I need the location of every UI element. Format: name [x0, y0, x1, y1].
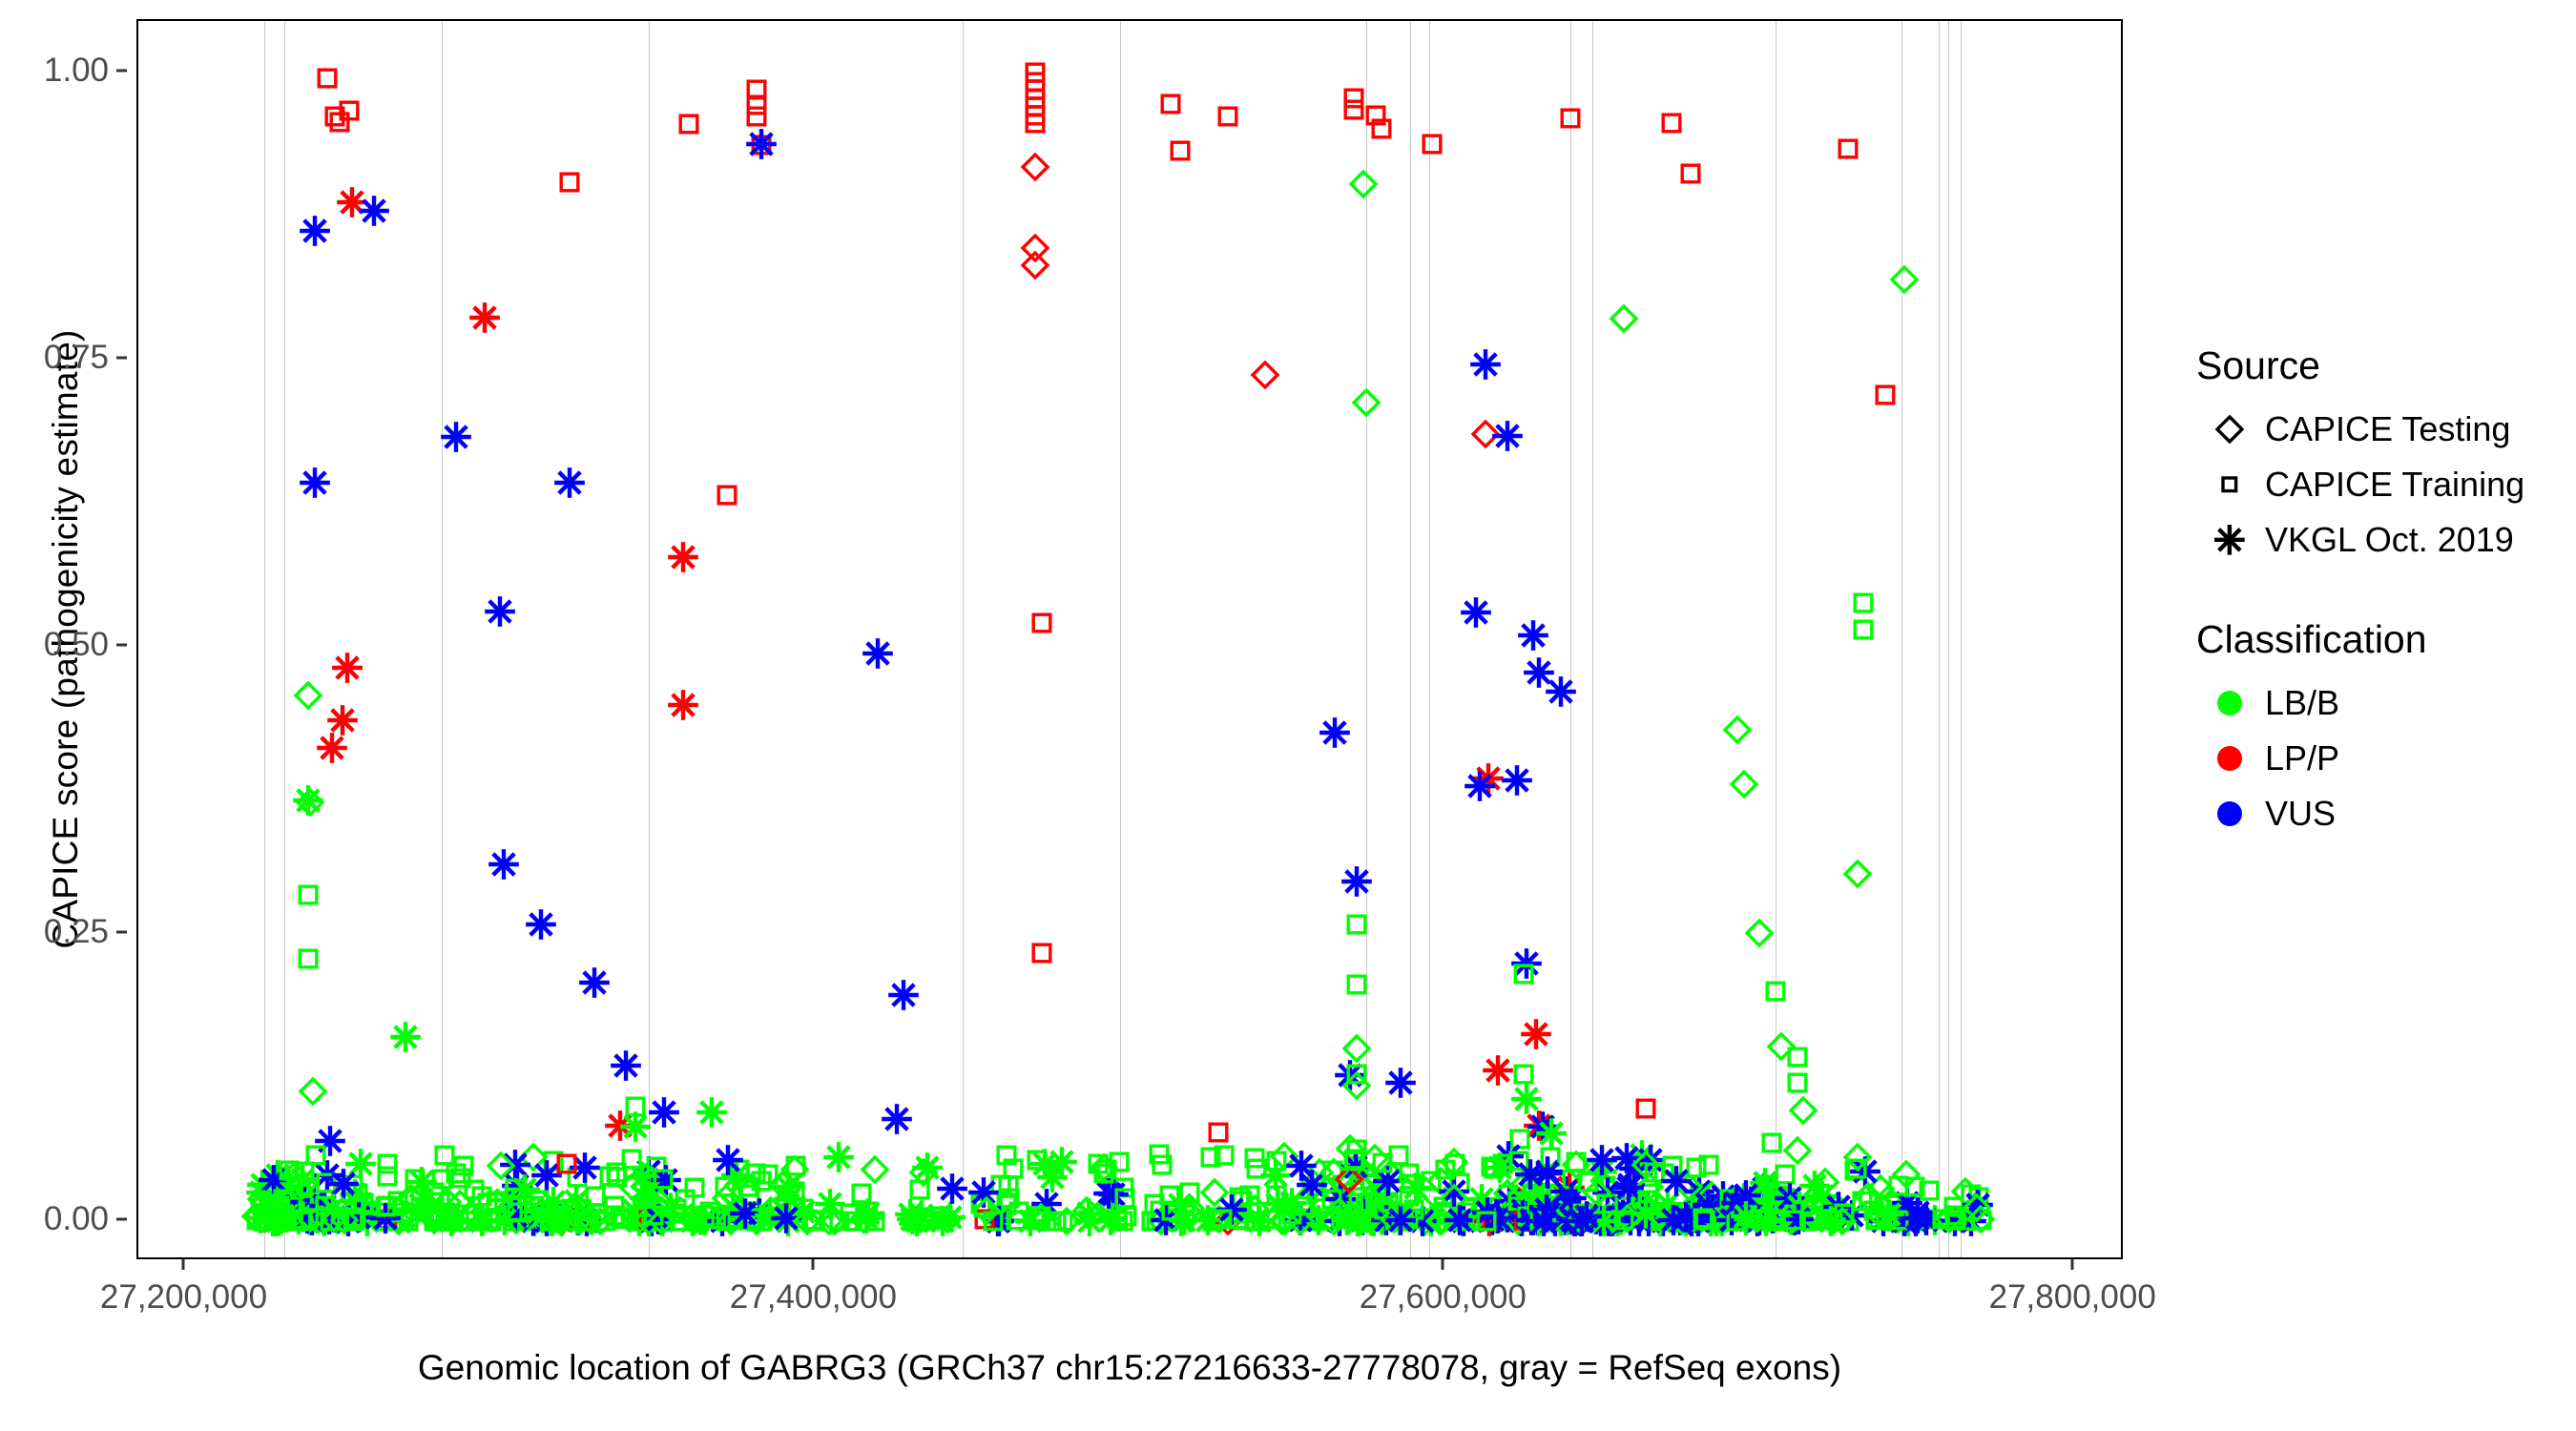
legend-item-classification[interactable]: LP/P	[2194, 731, 2557, 786]
data-point	[301, 1209, 325, 1234]
data-point	[750, 1195, 790, 1235]
data-point	[1212, 1143, 1236, 1168]
data-point	[1497, 760, 1537, 800]
data-point	[1482, 1157, 1506, 1182]
data-point	[1370, 1151, 1395, 1175]
data-point	[275, 1206, 300, 1231]
y-tick-mark	[116, 1217, 127, 1220]
data-point	[1619, 1197, 1659, 1237]
data-point	[275, 1209, 300, 1234]
data-point	[1966, 1185, 1991, 1210]
data-point	[973, 1207, 998, 1232]
data-point	[436, 1206, 461, 1231]
data-point	[632, 1209, 656, 1234]
data-point	[987, 1207, 1011, 1232]
legend-item-source[interactable]: VKGL Oct. 2019	[2194, 512, 2557, 568]
x-tick-label: 27,200,000	[100, 1278, 267, 1317]
data-point	[715, 1205, 747, 1237]
data-point	[554, 1151, 579, 1176]
data-point	[1610, 1200, 1651, 1240]
data-point	[1757, 1178, 1797, 1218]
data-point	[1419, 1208, 1444, 1233]
data-point	[1114, 1204, 1139, 1229]
data-point	[1508, 1196, 1548, 1236]
data-point	[677, 1205, 710, 1237]
data-point	[1462, 1179, 1502, 1219]
data-point	[782, 1179, 807, 1204]
data-point	[335, 1174, 375, 1214]
data-point	[618, 1206, 643, 1231]
data-point	[1612, 1194, 1637, 1219]
data-point	[1511, 1209, 1536, 1234]
data-point	[1025, 1144, 1065, 1184]
data-point	[1601, 1200, 1641, 1240]
data-point	[1935, 1201, 1975, 1241]
legend-key	[2194, 801, 2265, 826]
data-point	[1356, 1204, 1388, 1236]
data-point	[1471, 1201, 1496, 1226]
data-point	[838, 1201, 862, 1226]
data-point	[1913, 1207, 1938, 1232]
data-point	[313, 1189, 353, 1229]
data-point	[1626, 1194, 1666, 1234]
data-point	[355, 1199, 380, 1224]
data-point	[1576, 1209, 1601, 1234]
data-point	[1784, 1209, 1809, 1234]
data-point	[1593, 1173, 1618, 1198]
data-point	[556, 1181, 596, 1221]
data-point	[1516, 1174, 1556, 1214]
data-point	[1516, 1014, 1556, 1054]
data-point	[1548, 1208, 1572, 1233]
data-point	[612, 1207, 636, 1232]
data-point	[651, 1207, 675, 1232]
data-point	[1528, 1193, 1568, 1234]
data-point	[505, 1171, 545, 1211]
data-point	[1803, 1176, 1843, 1216]
data-point	[1188, 1200, 1228, 1240]
data-point	[1863, 1201, 1903, 1241]
data-point	[425, 1206, 449, 1231]
data-point	[1025, 1208, 1049, 1233]
data-point	[323, 700, 364, 740]
data-point	[624, 1094, 649, 1119]
data-point	[277, 1182, 309, 1214]
y-tick-label: 0.00	[0, 1200, 109, 1238]
data-point	[1794, 1196, 1826, 1229]
data-point	[756, 1162, 780, 1187]
data-point	[1717, 1209, 1742, 1234]
legend-item-source[interactable]: CAPICE Testing	[2194, 402, 2557, 457]
data-point	[268, 1168, 293, 1192]
data-point	[1948, 1207, 1973, 1232]
data-point	[859, 633, 899, 674]
data-point	[479, 1209, 504, 1234]
data-point	[513, 1200, 553, 1240]
data-point	[1069, 1193, 1109, 1234]
legend-item-classification[interactable]: VUS	[2194, 786, 2557, 841]
data-point	[481, 591, 521, 632]
data-point	[1420, 132, 1444, 156]
data-point	[1024, 111, 1049, 135]
data-point	[327, 110, 352, 135]
data-point	[241, 1172, 281, 1213]
data-point	[1142, 1192, 1167, 1216]
data-point	[604, 1161, 629, 1186]
data-point	[1144, 1209, 1169, 1234]
data-point	[267, 1193, 292, 1218]
data-point	[476, 1209, 501, 1234]
data-point	[1288, 1185, 1320, 1217]
data-point	[1334, 1132, 1366, 1165]
data-point	[396, 1209, 421, 1234]
data-point	[663, 686, 703, 726]
data-point	[1717, 1187, 1742, 1212]
y-tick-label: 0.50	[0, 626, 109, 664]
data-point	[981, 1209, 1006, 1234]
data-point	[622, 1157, 662, 1197]
data-point	[1319, 1201, 1360, 1241]
data-point	[848, 1194, 888, 1234]
data-point	[1238, 1200, 1263, 1225]
data-point	[892, 1199, 932, 1239]
data-point	[605, 1165, 630, 1190]
data-point	[1712, 1200, 1752, 1240]
data-point	[254, 1160, 294, 1200]
exon-line	[1120, 21, 1121, 1257]
data-point	[1656, 1161, 1696, 1201]
data-point	[741, 124, 781, 164]
data-point	[314, 1193, 339, 1218]
data-point	[1888, 263, 1921, 296]
data-point	[616, 1171, 649, 1203]
data-point	[1513, 1201, 1553, 1241]
data-point	[397, 1183, 429, 1215]
data-point	[341, 1144, 381, 1184]
data-point	[1725, 1188, 1765, 1228]
data-point	[1256, 1155, 1296, 1195]
data-point	[251, 1209, 276, 1234]
data-point	[1691, 1201, 1731, 1241]
data-point	[1298, 1168, 1330, 1200]
data-point	[352, 1191, 377, 1215]
data-point	[1557, 1190, 1582, 1214]
data-point	[278, 1158, 302, 1183]
data-point	[1339, 1201, 1379, 1241]
data-point	[1479, 1050, 1519, 1090]
data-point	[292, 1207, 317, 1232]
data-point	[1703, 1176, 1743, 1216]
data-point	[544, 1199, 584, 1239]
data-point	[1341, 1150, 1366, 1174]
data-point	[608, 1205, 633, 1230]
data-point	[1465, 344, 1506, 384]
data-point	[298, 1207, 322, 1232]
data-point	[1198, 1176, 1231, 1209]
data-point	[1323, 1195, 1356, 1228]
data-point	[1148, 1198, 1173, 1223]
data-point	[1409, 1205, 1442, 1237]
data-point	[539, 1204, 564, 1229]
data-point	[1884, 1209, 1909, 1234]
data-point	[1327, 1200, 1367, 1240]
data-point	[1442, 1209, 1466, 1234]
data-point	[1837, 1209, 1861, 1234]
data-point	[1688, 1193, 1713, 1218]
data-point	[1778, 1199, 1818, 1239]
data-point	[1203, 1203, 1236, 1235]
data-point	[505, 1201, 530, 1226]
data-point	[557, 1199, 597, 1239]
data-point	[287, 1174, 312, 1199]
data-point	[1832, 1202, 1857, 1227]
data-point	[1549, 1168, 1589, 1208]
data-point	[766, 1199, 806, 1239]
data-point	[1614, 1149, 1654, 1189]
data-point	[1660, 1153, 1685, 1178]
data-point	[1800, 1209, 1825, 1234]
data-point	[495, 1146, 535, 1186]
data-point	[1519, 653, 1559, 693]
data-point	[862, 1209, 887, 1234]
data-point	[262, 1208, 287, 1233]
data-point	[1876, 1199, 1908, 1232]
data-point	[1004, 1208, 1028, 1233]
data-point	[1607, 1138, 1647, 1178]
data-point	[624, 1209, 649, 1234]
legend-item-source[interactable]: CAPICE Training	[2194, 457, 2557, 512]
data-point	[1264, 1208, 1289, 1233]
data-point	[431, 1186, 464, 1218]
data-point	[418, 1204, 450, 1236]
data-point	[682, 1175, 707, 1200]
color-swatch-icon	[2217, 746, 2242, 771]
data-point	[1611, 1208, 1636, 1233]
data-point	[454, 1209, 479, 1234]
data-point	[779, 1153, 811, 1186]
data-point	[1019, 232, 1051, 264]
data-point	[1402, 1201, 1443, 1241]
data-point	[285, 1209, 310, 1234]
data-point	[279, 1159, 311, 1192]
data-point	[402, 1162, 442, 1202]
data-point	[1952, 1209, 1977, 1234]
data-point	[1724, 1209, 1749, 1234]
data-point	[293, 1205, 325, 1237]
data-point	[1678, 161, 1703, 186]
data-point	[1666, 1205, 1698, 1237]
data-point	[1702, 1201, 1742, 1241]
data-point	[1151, 1152, 1175, 1177]
data-point	[1783, 1208, 1808, 1233]
legend-classification-title: Classification	[2196, 617, 2557, 662]
color-swatch-icon	[2217, 801, 2242, 826]
data-point	[1489, 1136, 1529, 1176]
data-point	[651, 1189, 691, 1229]
data-point	[568, 1209, 592, 1234]
data-point	[800, 1208, 824, 1233]
data-point	[1024, 70, 1049, 94]
data-point	[1489, 1199, 1522, 1232]
data-point	[1548, 1198, 1589, 1238]
data-point	[1527, 1151, 1568, 1192]
data-point	[1790, 1203, 1815, 1228]
data-point	[288, 780, 328, 820]
data-point	[1025, 1201, 1057, 1234]
data-point	[1366, 1192, 1391, 1217]
data-point	[1173, 1202, 1197, 1227]
data-point	[565, 1148, 605, 1188]
data-point	[1570, 1201, 1595, 1226]
data-point	[1878, 1198, 1918, 1238]
legend-item-classification[interactable]: LB/B	[2194, 675, 2557, 731]
data-point	[1523, 1107, 1563, 1147]
data-point	[1779, 1209, 1804, 1234]
data-point	[1304, 1179, 1329, 1204]
data-point	[1958, 1185, 1998, 1225]
data-point	[1706, 1194, 1731, 1219]
data-point	[292, 1159, 317, 1184]
data-point	[1168, 138, 1193, 163]
data-point	[542, 1201, 582, 1241]
data-point	[1518, 1200, 1558, 1240]
data-point	[1359, 1142, 1391, 1174]
exon-line	[1592, 21, 1593, 1257]
x-tick-mark	[2071, 1259, 2074, 1270]
data-point	[1264, 1149, 1289, 1173]
data-point	[1341, 86, 1366, 111]
data-point	[527, 1189, 551, 1213]
exon-line	[264, 21, 265, 1257]
data-point	[539, 1209, 564, 1234]
data-point	[1032, 1157, 1072, 1197]
data-point	[484, 844, 524, 884]
data-point	[1810, 1190, 1850, 1230]
data-point	[732, 1204, 757, 1229]
data-point	[1581, 1201, 1621, 1241]
data-point	[1609, 1168, 1649, 1208]
data-point	[739, 1208, 764, 1233]
data-point	[1542, 672, 1582, 712]
data-point	[1346, 1191, 1371, 1215]
data-point	[1549, 1196, 1589, 1236]
exon-line	[963, 21, 964, 1257]
data-point	[1826, 1205, 1859, 1237]
data-point	[246, 1187, 286, 1227]
data-point	[907, 1148, 947, 1188]
data-point	[745, 77, 770, 102]
data-point	[1376, 1207, 1401, 1232]
data-point	[391, 1209, 416, 1234]
data-point	[1688, 1186, 1728, 1226]
y-tick-label: 0.75	[0, 339, 109, 377]
data-point	[1752, 1179, 1792, 1219]
data-point	[1750, 1204, 1782, 1236]
data-point	[1272, 1184, 1312, 1224]
data-point	[1883, 1192, 1908, 1217]
data-point	[646, 1205, 678, 1237]
exon-line	[1901, 21, 1902, 1257]
data-point	[1898, 1199, 1938, 1239]
data-point	[1503, 1185, 1535, 1217]
data-point	[1366, 1201, 1406, 1241]
data-point	[630, 1161, 662, 1193]
data-point	[1942, 1207, 1967, 1232]
data-point	[1348, 1209, 1373, 1234]
data-point	[1875, 1205, 1900, 1230]
data-point	[677, 113, 702, 137]
data-point	[1329, 1198, 1369, 1238]
data-point	[565, 1165, 590, 1190]
data-point	[1636, 1181, 1661, 1206]
data-point	[1760, 1130, 1785, 1155]
data-point	[708, 1140, 748, 1180]
data-point	[901, 1209, 925, 1234]
data-point	[428, 1207, 453, 1232]
data-point	[1478, 1198, 1518, 1238]
data-point	[531, 1201, 571, 1241]
data-point	[1392, 1209, 1417, 1234]
data-point	[1746, 1199, 1771, 1224]
data-point	[298, 1198, 338, 1238]
data-point	[1950, 1206, 1975, 1231]
data-point	[1237, 1184, 1262, 1209]
data-point	[1766, 1184, 1791, 1209]
data-point	[454, 1198, 487, 1231]
data-point	[979, 1201, 1019, 1241]
data-point	[1269, 1205, 1301, 1237]
data-point	[1635, 1188, 1660, 1213]
data-point	[1146, 1201, 1186, 1241]
data-point	[650, 1208, 675, 1233]
data-point	[508, 1209, 532, 1234]
data-point	[1244, 1156, 1269, 1181]
data-point	[533, 1182, 573, 1222]
data-point	[1728, 768, 1760, 800]
legend-spacer	[2194, 568, 2557, 617]
data-point	[1303, 1156, 1336, 1189]
data-point	[1727, 1175, 1767, 1215]
data-point	[1029, 942, 1054, 966]
data-point	[1525, 1191, 1557, 1223]
data-point	[1028, 1208, 1053, 1233]
data-point	[425, 1208, 449, 1233]
data-point	[1751, 1182, 1776, 1207]
data-point	[1526, 1199, 1550, 1224]
data-point	[322, 104, 347, 129]
data-point	[584, 1205, 616, 1237]
data-point	[1158, 92, 1183, 116]
data-point	[390, 1200, 415, 1225]
data-point	[1666, 1198, 1706, 1238]
data-point	[1811, 1201, 1851, 1241]
data-point	[1745, 1163, 1785, 1203]
data-point	[1347, 168, 1380, 200]
data-point	[1475, 1209, 1500, 1234]
data-point	[264, 1205, 297, 1237]
data-point	[1753, 1198, 1793, 1238]
data-point	[768, 1167, 808, 1207]
data-point	[1321, 1158, 1346, 1183]
data-point	[651, 1167, 675, 1192]
data-point	[1649, 1207, 1673, 1232]
data-point	[291, 1203, 316, 1228]
data-point	[1560, 1149, 1592, 1181]
data-point	[1472, 1200, 1512, 1240]
data-point	[964, 1172, 1004, 1213]
data-point	[296, 1193, 336, 1234]
data-point	[1626, 1186, 1658, 1218]
